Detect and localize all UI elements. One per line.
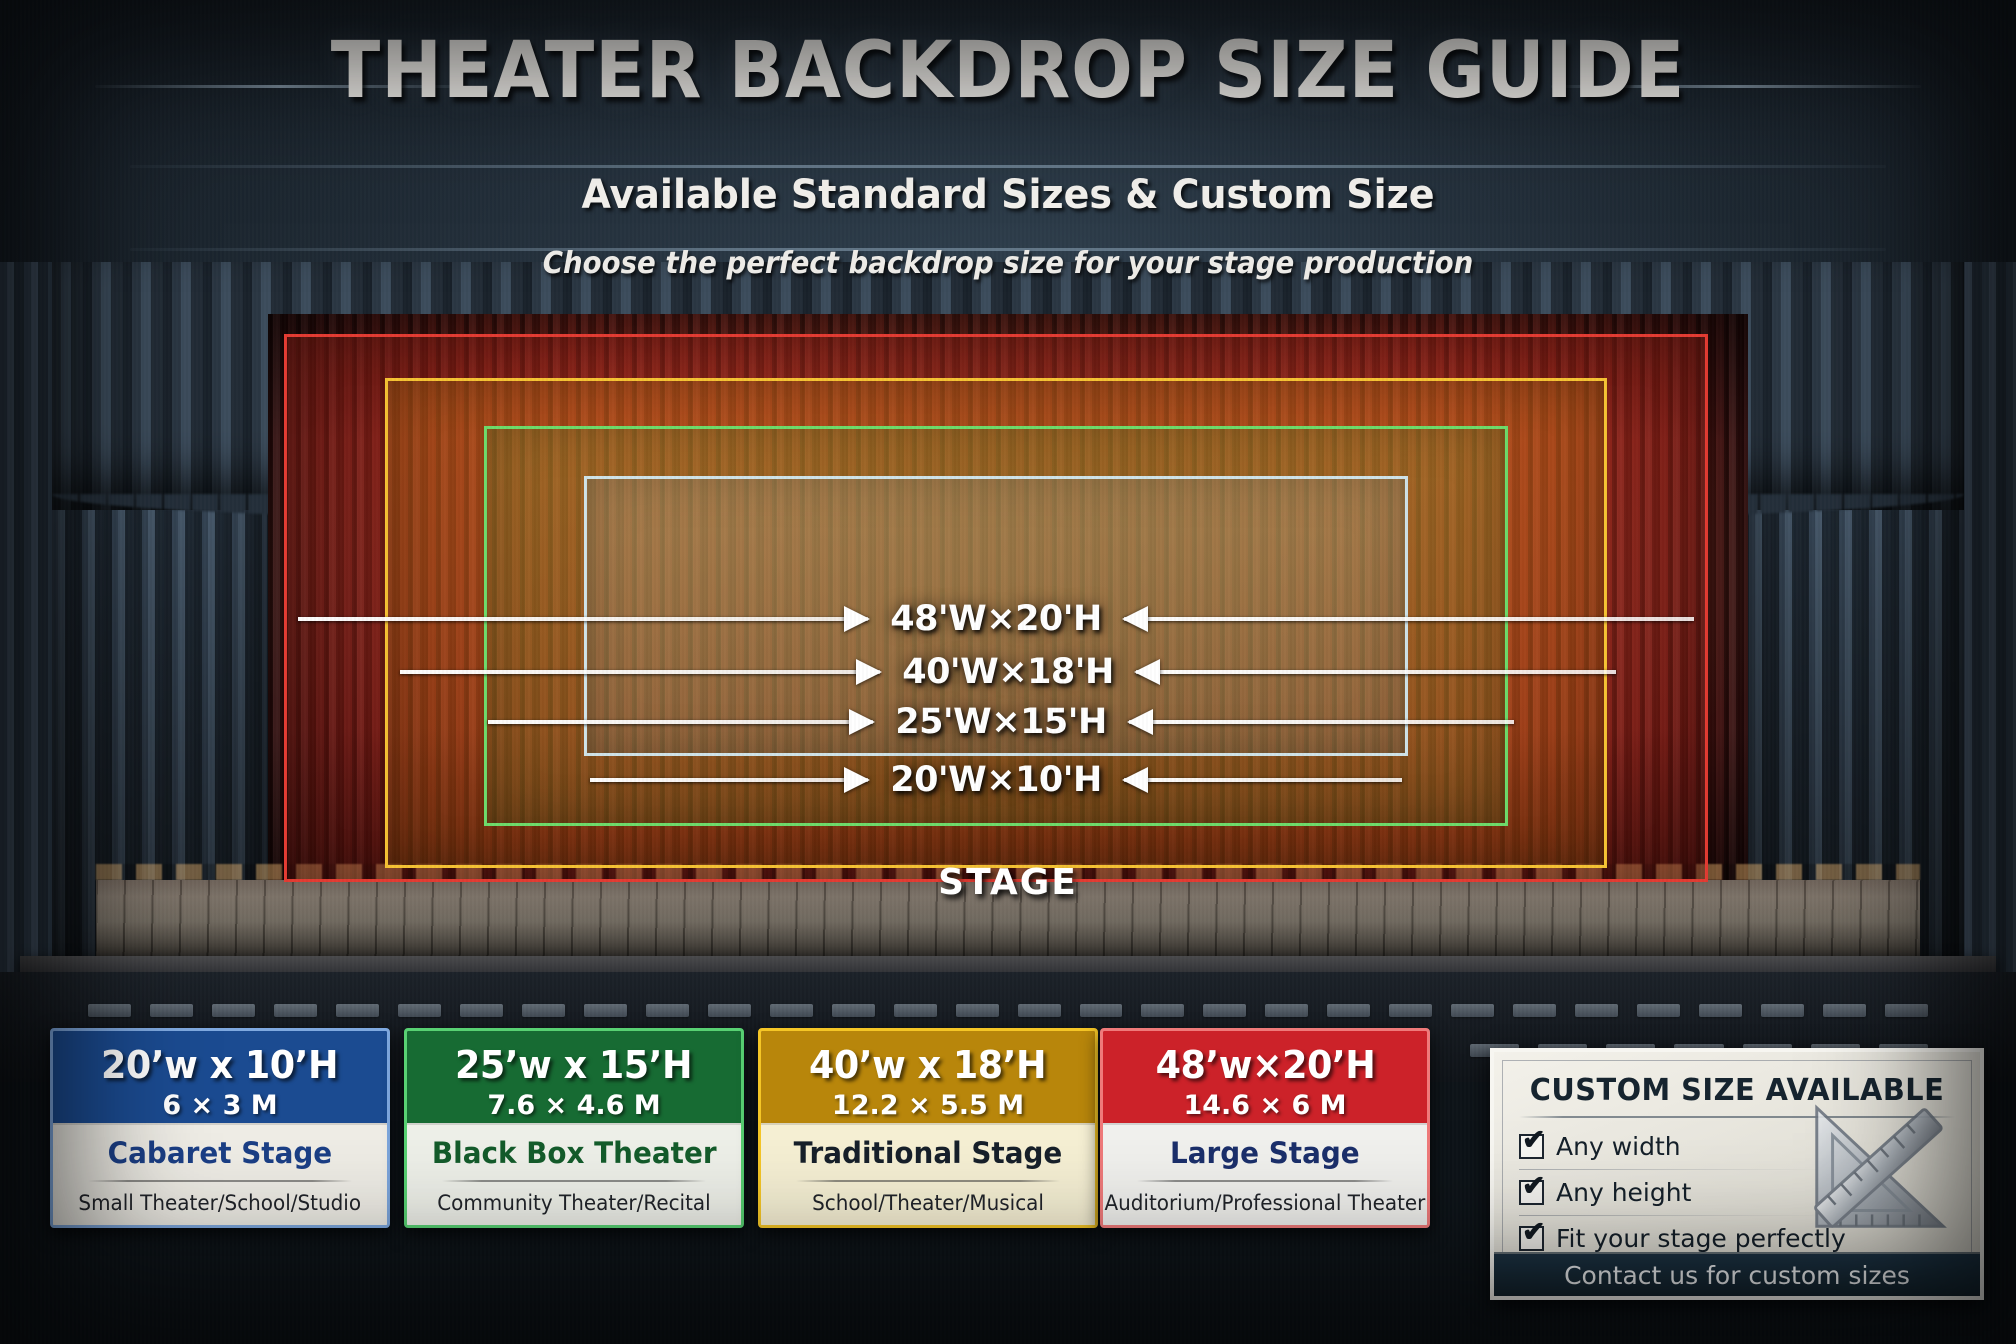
- seat-marker: [1451, 1004, 1494, 1017]
- card-use-cases: Small Theater/School/Studio: [79, 1191, 362, 1215]
- card-divider: [796, 1180, 1060, 1182]
- card-body: Black Box Theater Community Theater/Reci…: [407, 1123, 741, 1228]
- seat-marker: [1699, 1004, 1742, 1017]
- header-divider-top: [130, 165, 1886, 168]
- seat-marker: [1327, 1004, 1370, 1017]
- card-divider: [442, 1180, 706, 1182]
- stage-floor-lip: [20, 956, 1996, 972]
- seat-marker: [894, 1004, 937, 1017]
- card-use-cases: Community Theater/Recital: [437, 1191, 710, 1215]
- seat-row-front: [88, 1004, 1928, 1017]
- size-overlay-20x10[interactable]: [584, 476, 1408, 756]
- seat-marker: [336, 1004, 379, 1017]
- custom-feature-any-height: Any height: [1519, 1170, 1955, 1215]
- custom-feature-label: Any height: [1556, 1178, 1691, 1207]
- seat-marker: [274, 1004, 317, 1017]
- seat-marker: [1823, 1004, 1866, 1017]
- size-card-cabaret-stage[interactable]: 20’w x 10’H 6 × 3 M Cabaret Stage Small …: [50, 1028, 390, 1228]
- seat-marker: [646, 1004, 689, 1017]
- card-header: 48’w×20’H 14.6 × 6 M: [1103, 1031, 1427, 1123]
- card-divider: [1137, 1180, 1392, 1182]
- seat-marker: [832, 1004, 875, 1017]
- card-body: Large Stage Auditorium/Professional Thea…: [1103, 1123, 1427, 1228]
- custom-feature-label: Fit your stage perfectly: [1556, 1224, 1846, 1253]
- card-title: Traditional Stage: [794, 1136, 1063, 1170]
- card-dimension-feet: 40’w x 18’H: [809, 1043, 1046, 1087]
- card-divider: [88, 1180, 352, 1182]
- seat-marker: [88, 1004, 131, 1017]
- card-dimension-meters: 12.2 × 5.5 M: [832, 1090, 1024, 1121]
- card-dimension-meters: 7.6 × 4.6 M: [487, 1090, 660, 1121]
- seat-marker: [398, 1004, 441, 1017]
- seat-marker: [1389, 1004, 1432, 1017]
- custom-feature-label: Any width: [1556, 1132, 1681, 1161]
- seat-marker: [1080, 1004, 1123, 1017]
- card-dimension-feet: 25’w x 15’H: [455, 1043, 692, 1087]
- size-card-large-stage[interactable]: 48’w×20’H 14.6 × 6 M Large Stage Auditor…: [1100, 1028, 1430, 1228]
- custom-size-panel[interactable]: CUSTOM SIZE AVAILABLE Any width Any heig…: [1490, 1048, 1984, 1300]
- header: THEATER BACKDROP SIZE GUIDE Available St…: [0, 0, 2016, 290]
- card-use-cases: School/Theater/Musical: [812, 1191, 1044, 1215]
- custom-feature-any-width: Any width: [1519, 1124, 1955, 1169]
- seat-marker: [1513, 1004, 1556, 1017]
- seat-marker: [956, 1004, 999, 1017]
- card-dimension-feet: 48’w×20’H: [1155, 1043, 1375, 1087]
- seat-marker: [770, 1004, 813, 1017]
- card-header: 25’w x 15’H 7.6 × 4.6 M: [407, 1031, 741, 1123]
- card-title: Cabaret Stage: [108, 1136, 333, 1170]
- page-title: THEATER BACKDROP SIZE GUIDE: [71, 26, 1946, 116]
- custom-size-panel-inner: CUSTOM SIZE AVAILABLE Any width Any heig…: [1502, 1060, 1972, 1288]
- seat-marker: [1575, 1004, 1618, 1017]
- seat-marker: [522, 1004, 565, 1017]
- card-title: Black Box Theater: [432, 1136, 717, 1170]
- card-dimension-feet: 20’w x 10’H: [101, 1043, 338, 1087]
- size-card-traditional-stage[interactable]: 40’w x 18’H 12.2 × 5.5 M Traditional Sta…: [758, 1028, 1098, 1228]
- checkbox-checked-icon[interactable]: [1519, 1180, 1544, 1205]
- seat-marker: [1141, 1004, 1184, 1017]
- card-header: 20’w x 10’H 6 × 3 M: [53, 1031, 387, 1123]
- seat-marker: [1885, 1004, 1928, 1017]
- seat-marker: [150, 1004, 193, 1017]
- card-use-cases: Auditorium/Professional Theater: [1105, 1191, 1426, 1215]
- seat-marker: [460, 1004, 503, 1017]
- card-header: 40’w x 18’H 12.2 × 5.5 M: [761, 1031, 1095, 1123]
- page-subtitle: Available Standard Sizes & Custom Size: [50, 172, 1965, 218]
- size-card-black-box-theater[interactable]: 25’w x 15’H 7.6 × 4.6 M Black Box Theate…: [404, 1028, 744, 1228]
- seat-marker: [1637, 1004, 1680, 1017]
- seat-marker: [1018, 1004, 1061, 1017]
- card-title: Large Stage: [1170, 1136, 1360, 1170]
- card-body: Cabaret Stage Small Theater/School/Studi…: [53, 1123, 387, 1228]
- seat-marker: [1265, 1004, 1308, 1017]
- infographic-poster: THEATER BACKDROP SIZE GUIDE Available St…: [0, 0, 2016, 1344]
- checkbox-checked-icon[interactable]: [1519, 1226, 1544, 1251]
- card-dimension-meters: 14.6 × 6 M: [1183, 1090, 1346, 1121]
- card-body: Traditional Stage School/Theater/Musical: [761, 1123, 1095, 1228]
- seat-marker: [1203, 1004, 1246, 1017]
- seat-marker: [1761, 1004, 1804, 1017]
- seat-marker: [212, 1004, 255, 1017]
- card-dimension-meters: 6 × 3 M: [162, 1090, 277, 1121]
- seat-marker: [584, 1004, 627, 1017]
- custom-feature-fit-stage: Fit your stage perfectly: [1519, 1216, 1955, 1261]
- seat-marker: [708, 1004, 751, 1017]
- page-tagline: Choose the perfect backdrop size for you…: [81, 246, 1936, 281]
- stage-label: STAGE: [0, 862, 2016, 903]
- checkbox-checked-icon[interactable]: [1519, 1134, 1544, 1159]
